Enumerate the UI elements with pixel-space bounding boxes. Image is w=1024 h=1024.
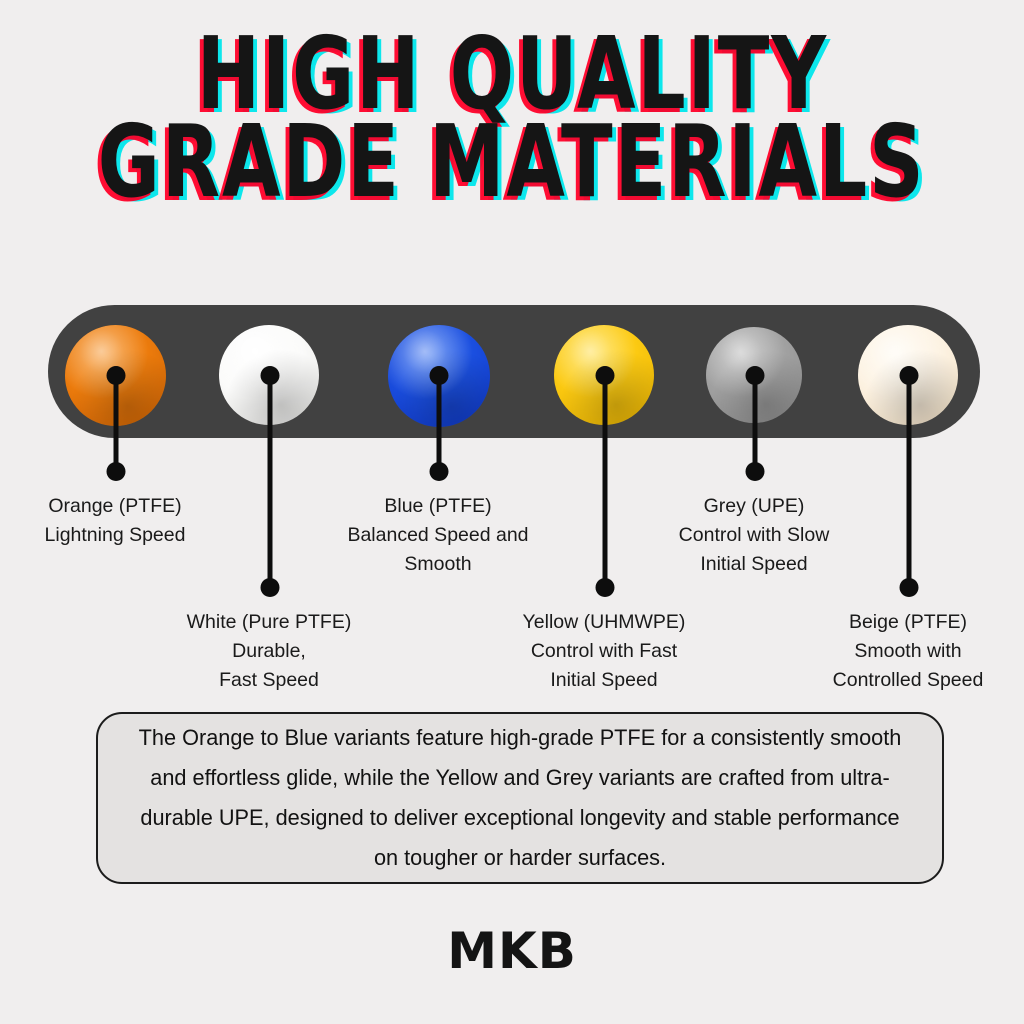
connector-dot-top <box>595 366 614 385</box>
connector-yellow <box>595 375 614 588</box>
label-yellow: Yellow (UHMWPE) Control with Fast Initia… <box>489 608 719 695</box>
connector-dot-bottom <box>429 462 448 481</box>
connector-dot-top <box>260 366 279 385</box>
connector-dot-bottom <box>899 578 918 597</box>
label-blue: Blue (PTFE) Balanced Speed and Smooth <box>323 492 553 579</box>
connector-dot-top <box>106 366 125 385</box>
connector-line <box>752 375 757 472</box>
connector-grey <box>745 375 764 472</box>
connector-beige <box>899 375 918 588</box>
label-grey-line-1: Grey (UPE) <box>639 492 869 521</box>
connector-dot-top <box>745 366 764 385</box>
title-line-2: GRADE MATERIALS <box>0 126 1024 202</box>
label-beige-line-3: Controlled Speed <box>793 666 1023 695</box>
connector-white <box>260 375 279 588</box>
label-grey: Grey (UPE) Control with Slow Initial Spe… <box>639 492 869 579</box>
label-white: White (Pure PTFE) Durable, Fast Speed <box>154 608 384 695</box>
connector-line <box>436 375 441 472</box>
connector-line <box>267 375 272 588</box>
title-line-2-text: GRADE MATERIALS <box>98 115 926 212</box>
label-grey-line-2: Control with Slow <box>639 521 869 550</box>
label-blue-line-1: Blue (PTFE) <box>323 492 553 521</box>
connector-blue <box>429 375 448 472</box>
label-blue-line-3: Smooth <box>323 550 553 579</box>
label-grey-line-3: Initial Speed <box>639 550 869 579</box>
description-text: The Orange to Blue variants feature high… <box>113 718 927 878</box>
connector-line <box>113 375 118 472</box>
description-box: The Orange to Blue variants feature high… <box>96 712 944 884</box>
connector-dot-bottom <box>745 462 764 481</box>
connector-dot-bottom <box>595 578 614 597</box>
page-title: HIGH QUALITY GRADE MATERIALS <box>0 38 1024 201</box>
label-orange-line-2: Lightning Speed <box>0 521 230 550</box>
label-yellow-line-3: Initial Speed <box>489 666 719 695</box>
label-blue-line-2: Balanced Speed and <box>323 521 553 550</box>
label-white-line-3: Fast Speed <box>154 666 384 695</box>
connector-dot-top <box>899 366 918 385</box>
label-orange-line-1: Orange (PTFE) <box>0 492 230 521</box>
infographic-page: HIGH QUALITY GRADE MATERIALS <box>0 0 1024 1024</box>
connector-line <box>602 375 607 588</box>
connector-dot-bottom <box>106 462 125 481</box>
label-white-line-2: Durable, <box>154 637 384 666</box>
label-beige: Beige (PTFE) Smooth with Controlled Spee… <box>793 608 1023 695</box>
connector-dot-bottom <box>260 578 279 597</box>
label-beige-line-1: Beige (PTFE) <box>793 608 1023 637</box>
label-orange: Orange (PTFE) Lightning Speed <box>0 492 230 550</box>
label-yellow-line-2: Control with Fast <box>489 637 719 666</box>
ball-track <box>48 305 980 438</box>
label-yellow-line-1: Yellow (UHMWPE) <box>489 608 719 637</box>
label-white-line-1: White (Pure PTFE) <box>154 608 384 637</box>
brand-logo: MKB <box>0 922 1024 980</box>
connector-line <box>906 375 911 588</box>
label-beige-line-2: Smooth with <box>793 637 1023 666</box>
connector-orange <box>106 375 125 472</box>
title-line-1: HIGH QUALITY <box>0 38 1024 114</box>
connector-dot-top <box>429 366 448 385</box>
